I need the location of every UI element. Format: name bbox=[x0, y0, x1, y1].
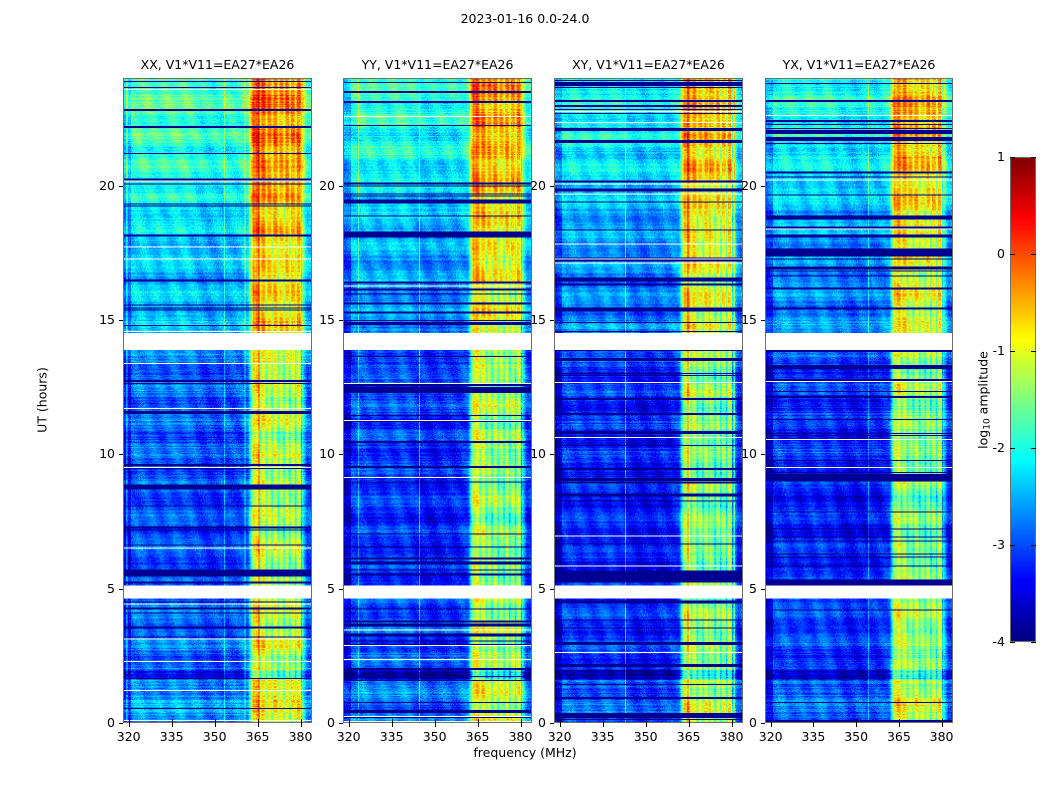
y-tick bbox=[119, 454, 123, 455]
y-tick bbox=[339, 723, 343, 724]
y-tick-label: 0 bbox=[498, 715, 546, 730]
colorbar[interactable] bbox=[1010, 157, 1036, 642]
colorbar-tick-label: -2 bbox=[993, 440, 1005, 455]
y-tick bbox=[761, 723, 765, 724]
heatmap-panel-yx[interactable]: YX, V1*V11=EA27*EA2632033535036538005101… bbox=[765, 78, 953, 723]
y-tick bbox=[761, 320, 765, 321]
colorbar-tick bbox=[1010, 254, 1015, 255]
x-tick-label: 380 bbox=[912, 723, 972, 744]
colorbar-tick-right bbox=[1031, 351, 1036, 352]
heatmap-panel-yy[interactable]: YY, V1*V11=EA27*EA2632033535036538005101… bbox=[343, 78, 532, 723]
y-tick bbox=[761, 454, 765, 455]
y-tick-label: 15 bbox=[67, 312, 115, 327]
y-tick bbox=[550, 186, 554, 187]
colorbar-tick-right bbox=[1031, 545, 1036, 546]
panel-frame bbox=[554, 78, 743, 723]
y-tick bbox=[550, 723, 554, 724]
y-tick-label: 0 bbox=[67, 715, 115, 730]
colorbar-label: log10 amplitude bbox=[976, 351, 991, 449]
waterfall-image-xy bbox=[555, 79, 742, 722]
x-axis-label: frequency (MHz) bbox=[0, 745, 1050, 760]
y-tick-label: 20 bbox=[287, 178, 335, 193]
colorbar-label-sub: 10 bbox=[983, 418, 993, 429]
y-tick-label: 5 bbox=[498, 581, 546, 596]
figure-canvas: 2023-01-16 0.0-24.0 UT (hours) XX, V1*V1… bbox=[0, 0, 1050, 800]
colorbar-tick-right bbox=[1031, 157, 1036, 158]
y-tick-label: 10 bbox=[287, 446, 335, 461]
colorbar-tick-right bbox=[1031, 254, 1036, 255]
y-tick-label: 5 bbox=[67, 581, 115, 596]
colorbar-tick-label: -1 bbox=[993, 343, 1005, 358]
colorbar-label-suffix: amplitude bbox=[976, 351, 991, 418]
colorbar-tick-label: -3 bbox=[993, 537, 1005, 552]
y-tick bbox=[550, 320, 554, 321]
panel-frame bbox=[123, 78, 312, 723]
colorbar-gradient bbox=[1011, 158, 1035, 641]
waterfall-image-xx bbox=[124, 79, 311, 722]
waterfall-image-yy bbox=[344, 79, 531, 722]
y-tick bbox=[761, 589, 765, 590]
y-tick bbox=[339, 186, 343, 187]
y-tick-label: 10 bbox=[709, 446, 757, 461]
colorbar-tick bbox=[1010, 157, 1015, 158]
panel-frame bbox=[765, 78, 953, 723]
figure-suptitle: 2023-01-16 0.0-24.0 bbox=[0, 11, 1050, 26]
y-tick bbox=[119, 723, 123, 724]
y-tick-label: 15 bbox=[709, 312, 757, 327]
colorbar-tick bbox=[1010, 545, 1015, 546]
y-tick bbox=[339, 320, 343, 321]
colorbar-tick bbox=[1010, 448, 1015, 449]
colorbar-tick bbox=[1010, 351, 1015, 352]
colorbar-tick-label: 0 bbox=[997, 246, 1005, 261]
colorbar-tick-label: 1 bbox=[997, 149, 1005, 164]
colorbar-tick-label: -4 bbox=[993, 634, 1005, 649]
panel-title-yx: YX, V1*V11=EA27*EA26 bbox=[705, 57, 1013, 72]
y-tick-label: 15 bbox=[498, 312, 546, 327]
y-tick-label: 20 bbox=[498, 178, 546, 193]
panel-frame bbox=[343, 78, 532, 723]
y-tick-label: 15 bbox=[287, 312, 335, 327]
y-tick bbox=[550, 589, 554, 590]
colorbar-label-prefix: log bbox=[976, 430, 991, 449]
y-axis-label: UT (hours) bbox=[35, 367, 50, 433]
y-tick-label: 10 bbox=[67, 446, 115, 461]
y-tick bbox=[119, 589, 123, 590]
waterfall-image-yx bbox=[766, 79, 952, 722]
y-tick bbox=[761, 186, 765, 187]
y-tick-label: 0 bbox=[287, 715, 335, 730]
colorbar-tick-right bbox=[1031, 642, 1036, 643]
heatmap-panel-xx[interactable]: XX, V1*V11=EA27*EA2632033535036538005101… bbox=[123, 78, 312, 723]
y-tick bbox=[119, 186, 123, 187]
y-tick-label: 20 bbox=[67, 178, 115, 193]
y-tick bbox=[339, 589, 343, 590]
y-tick bbox=[119, 320, 123, 321]
heatmap-panel-xy[interactable]: XY, V1*V11=EA27*EA2632033535036538005101… bbox=[554, 78, 743, 723]
y-tick-label: 5 bbox=[709, 581, 757, 596]
y-tick bbox=[550, 454, 554, 455]
y-tick-label: 10 bbox=[498, 446, 546, 461]
y-tick-label: 20 bbox=[709, 178, 757, 193]
y-tick-label: 5 bbox=[287, 581, 335, 596]
y-tick-label: 0 bbox=[709, 715, 757, 730]
colorbar-tick bbox=[1010, 642, 1015, 643]
colorbar-tick-right bbox=[1031, 448, 1036, 449]
y-tick bbox=[339, 454, 343, 455]
